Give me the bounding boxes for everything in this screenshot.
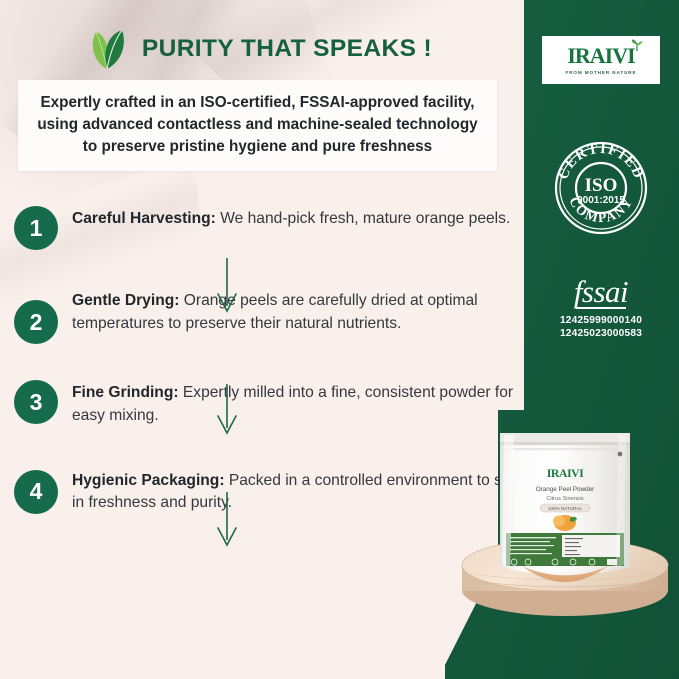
list-item: 1 Careful Harvesting: We hand-pick fresh…: [0, 206, 524, 250]
iso-center-text: ISO: [585, 175, 618, 196]
step-text: Gentle Drying: Orange peels are carefull…: [58, 288, 524, 336]
fssai-block: fssai 12425999000140 12425023000583: [538, 276, 664, 341]
fssai-license-2: 12425023000583: [538, 327, 664, 340]
step-title: Hygienic Packaging:: [72, 472, 225, 489]
step-number-badge: 3: [14, 380, 58, 424]
sprout-icon: [630, 38, 644, 52]
step-text: Careful Harvesting: We hand-pick fresh, …: [58, 206, 524, 231]
page-title: PURITY THAT SPEAKS !: [142, 35, 432, 63]
list-item: 3 Fine Grinding: Expertly milled into a …: [0, 380, 524, 428]
step-description: We hand-pick fresh, mature orange peels.: [216, 210, 510, 227]
list-item: 2 Gentle Drying: Orange peels are carefu…: [0, 288, 524, 344]
arrow-down-icon: [212, 492, 242, 548]
pouch-brand-text: IRAIVI: [547, 466, 584, 480]
pouch-product-name: Orange Peel Powder: [536, 486, 594, 493]
product-pouch: IRAIVI Orange Peel Powder Citrus Sinensi…: [500, 433, 630, 582]
step-number-badge: 4: [14, 470, 58, 514]
arrow-down-icon: [212, 258, 242, 314]
intro-text: Expertly crafted in an ISO-certified, FS…: [34, 92, 481, 158]
infographic-page: PURITY THAT SPEAKS ! Expertly crafted in…: [0, 0, 679, 679]
fssai-logo-text: fssai: [574, 276, 628, 307]
fssai-license-1: 12425999000140: [538, 314, 664, 327]
intro-callout-box: Expertly crafted in an ISO-certified, FS…: [18, 80, 497, 171]
header: PURITY THAT SPEAKS !: [0, 24, 520, 74]
product-photo: IRAIVI Orange Peel Powder Citrus Sinensi…: [452, 415, 679, 634]
step-title: Gentle Drying:: [72, 292, 179, 309]
arrow-down-icon: [212, 384, 242, 436]
process-steps-list: 1 Careful Harvesting: We hand-pick fresh…: [0, 196, 524, 515]
step-number-badge: 2: [14, 300, 58, 344]
step-title: Fine Grinding:: [72, 384, 179, 401]
iso-certified-badge: CERTIFIED COMPANY ISO 9001:2015: [553, 140, 649, 236]
step-number-badge: 1: [14, 206, 58, 250]
leaf-icon: [88, 27, 128, 71]
fssai-license-numbers: 12425999000140 12425023000583: [538, 314, 664, 341]
brand-logo-text: IRAIVI: [567, 45, 634, 67]
step-title: Careful Harvesting:: [72, 210, 216, 227]
pouch-botanical-name: Citrus Sinensis: [546, 496, 584, 502]
list-item: 4 Hygienic Packaging: Packed in a contro…: [0, 468, 524, 516]
iso-standard-text: 9001:2015: [577, 195, 625, 206]
pouch-badge-text: 100% NATURAL: [548, 506, 583, 511]
brand-logo: IRAIVI FROM MOTHER NATURE: [542, 36, 660, 84]
brand-logo-tagline: FROM MOTHER NATURE: [566, 70, 637, 75]
